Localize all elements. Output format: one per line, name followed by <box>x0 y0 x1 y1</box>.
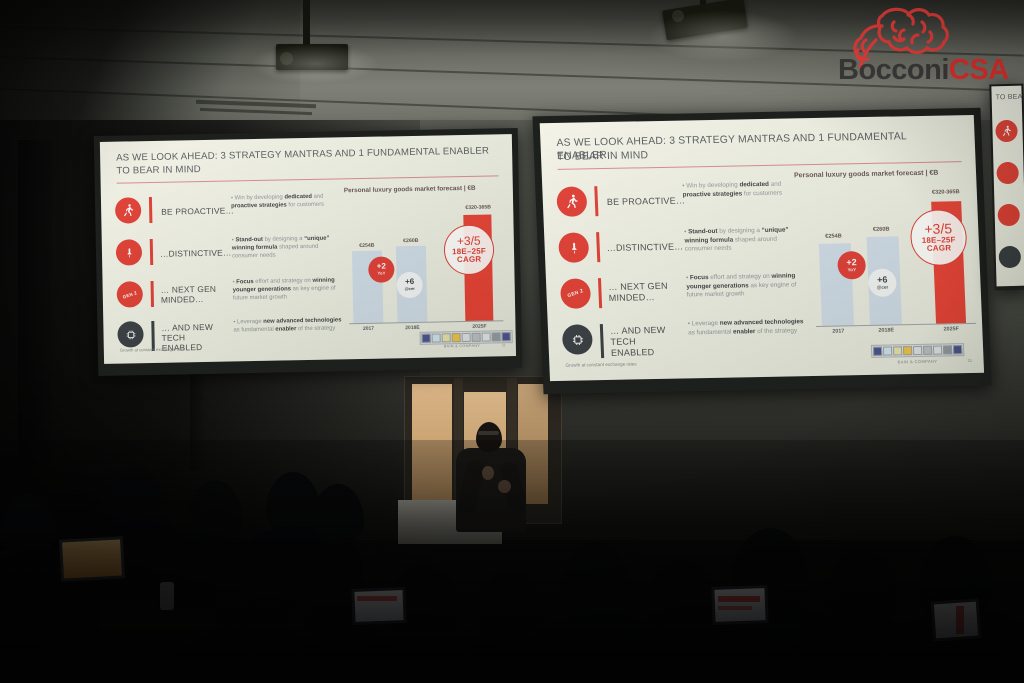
brand-logo: BAIN & COMPANY <box>897 359 937 365</box>
bullet-text: • Win by developing dedicated and proact… <box>231 193 341 211</box>
bocconi-csa-logo: BocconiCSA <box>826 6 1022 94</box>
slide-right: AS WE LOOK AHEAD: 3 STRATEGY MANTRAS AND… <box>540 115 984 381</box>
toolbar-button[interactable] <box>953 345 962 354</box>
mantra-label: … NEXT GEN MINDED… <box>608 281 679 304</box>
bar-value-2017: €254B <box>348 243 386 250</box>
projection-screen-far-right: TO BEAR IN MIND <box>989 84 1024 291</box>
mantra-label: … AND NEW TECH ENABLED <box>610 325 677 359</box>
mantra-label: …DISTINCTIVE… <box>607 242 684 254</box>
bullet-text: • Focus effort and strategy on winning y… <box>233 277 345 303</box>
bar-chart: €254B €260B €320-365B 2017 2018E 2025F +… <box>347 196 505 323</box>
cer-value: +6 <box>405 278 414 286</box>
yoy-badge: +2 YoY <box>368 256 394 282</box>
toolbar-button[interactable] <box>422 334 431 343</box>
pin-icon <box>116 239 142 265</box>
toolbar-button[interactable] <box>923 346 932 355</box>
audience <box>0 440 1024 683</box>
toolbar-button[interactable] <box>452 333 461 342</box>
yoy-badge: +2 YoY <box>837 251 866 280</box>
toolbar-button[interactable] <box>893 346 902 355</box>
bar-value-2025F: €320-365B <box>453 204 503 211</box>
toolbar-button[interactable] <box>873 347 882 356</box>
yoy-sub: YoY <box>847 268 856 273</box>
slide-footnote: Growth at constant exchange rates <box>565 361 636 367</box>
toolbar-button[interactable] <box>903 346 912 355</box>
runner-icon <box>556 186 587 217</box>
lecture-hall-photo: AS WE LOOK AHEAD: 3 STRATEGY MANTRAS AND… <box>0 0 1024 683</box>
mantra-label: BE PROACTIVE… <box>161 205 234 216</box>
page-number: 21 <box>502 343 506 347</box>
bullet-text: • Leverage new advanced technologies as … <box>688 318 811 337</box>
bullet-text: • Stand-out by designing a “unique” winn… <box>232 235 344 261</box>
projection-screen-left: AS WE LOOK AHEAD: 3 STRATEGY MANTRAS AND… <box>94 128 523 376</box>
bullet-text: • Leverage new advanced technologies as … <box>233 317 345 335</box>
logo-text-bocconi: Bocconi <box>838 54 949 86</box>
cagr-sub2: CAGR <box>457 256 482 265</box>
toolbar-button[interactable] <box>482 333 491 342</box>
toolbar-button[interactable] <box>502 332 511 341</box>
gen-z-label: GEN Z <box>122 290 138 300</box>
x-tick-2025F: 2025F <box>461 323 497 330</box>
bar-value-2018E: €260B <box>392 238 430 245</box>
pin-icon <box>996 162 1019 185</box>
tech-chip-icon <box>562 324 593 355</box>
x-tick-2018E: 2018E <box>395 325 429 332</box>
cer-value: +6 <box>877 275 888 284</box>
bullet-text: • Stand-out by designing a “unique” winn… <box>684 226 805 254</box>
page-number: 21 <box>967 358 972 363</box>
gen-z-icon: GEN Z <box>113 278 146 311</box>
bar-value-2018E: €260B <box>860 226 902 233</box>
gen-z-label: GEN Z <box>567 288 584 298</box>
bar-value-2017: €254B <box>812 233 854 240</box>
gen-z-icon: GEN Z <box>556 275 595 313</box>
cer-sub: @cer <box>877 285 889 290</box>
runner-icon <box>995 120 1018 143</box>
toolbar-button[interactable] <box>913 346 922 355</box>
runner-icon <box>115 197 141 223</box>
yoy-value: +2 <box>846 258 857 267</box>
projector-beam-glow <box>250 44 380 84</box>
ghost-title-overlap: AS WE LOOK AHEAD: 3 STRATEGY MANTRAS AND… <box>555 115 975 123</box>
toolbar-button[interactable] <box>432 333 441 342</box>
projector-beam-glow <box>648 10 798 62</box>
bar-value-2025F: €320-365B <box>919 189 973 196</box>
projection-screen-right: AS WE LOOK AHEAD: 3 STRATEGY MANTRAS AND… <box>532 108 991 394</box>
toolbar-button[interactable] <box>943 345 952 354</box>
presentation-toolbar[interactable] <box>871 343 965 358</box>
toolbar-button[interactable] <box>442 333 451 342</box>
mantra-label: … NEXT GEN MINDED… <box>161 284 227 305</box>
x-tick-2017: 2017 <box>820 328 856 335</box>
cagr-sub2: CAGR <box>927 245 952 254</box>
cer-sub: @cer <box>405 287 415 291</box>
toolbar-button[interactable] <box>492 332 501 341</box>
speaker-glasses <box>478 431 499 435</box>
yoy-value: +2 <box>377 263 386 271</box>
chart-heading: Personal luxury goods market forecast | … <box>794 170 939 180</box>
tech-chip-icon <box>999 246 1022 269</box>
presentation-toolbar[interactable] <box>420 330 513 345</box>
mantra-label: …DISTINCTIVE… <box>160 247 232 258</box>
toolbar-button[interactable] <box>472 333 481 342</box>
bar-chart: €254B €260B €320-365B 2017 2018E 2025F +… <box>810 183 976 326</box>
tech-chip-icon <box>117 321 143 347</box>
pin-icon <box>558 232 589 263</box>
yoy-sub: YoY <box>377 272 385 276</box>
toolbar-button[interactable] <box>883 347 892 356</box>
toolbar-button[interactable] <box>933 346 942 355</box>
logo-wordmark: BocconiCSA <box>838 54 1009 87</box>
bullet-text: • Focus effort and strategy on winning y… <box>686 272 809 300</box>
slide-left: AS WE LOOK AHEAD: 3 STRATEGY MANTRAS AND… <box>100 134 516 364</box>
x-tick-2017: 2017 <box>351 326 385 333</box>
slide-far-right: TO BEAR IN MIND <box>991 86 1024 287</box>
chart-heading: Personal luxury goods market forecast | … <box>344 185 476 195</box>
x-tick-2018E: 2018E <box>868 327 904 334</box>
projector-mount-pole <box>303 0 310 46</box>
brand-logo: BAIN & COMPANY <box>444 344 480 349</box>
mantra-label: BE PROACTIVE… <box>607 195 686 207</box>
slide-title-line1: TO BEAR IN MIND <box>996 93 1024 103</box>
toolbar-button[interactable] <box>462 333 471 342</box>
title-underline <box>117 175 499 183</box>
gen-z-icon <box>997 204 1020 227</box>
bullet-text: • Win by developing dedicated and proact… <box>682 180 801 199</box>
logo-text-csa: CSA <box>949 54 1009 86</box>
x-tick-2025F: 2025F <box>932 326 970 333</box>
